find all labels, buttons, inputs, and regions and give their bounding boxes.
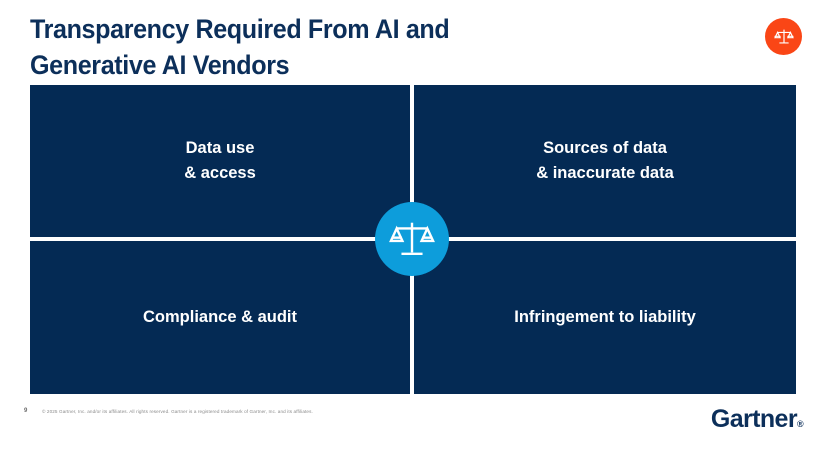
copyright-notice: © 2025 Gartner, Inc. and/or its affiliat… bbox=[42, 409, 313, 414]
quadrant-label: Compliance & audit bbox=[143, 308, 297, 328]
slide-header: Transparency Required From AI and Genera… bbox=[30, 12, 730, 83]
slide-number: 9 bbox=[24, 408, 27, 414]
gartner-logo-text: Gartner bbox=[711, 405, 797, 433]
quadrant-compliance-and-audit[interactable]: Compliance & audit bbox=[30, 241, 410, 394]
quadrant-matrix: Data use & access Sources of data & inac… bbox=[30, 85, 796, 394]
scales-of-justice-icon bbox=[375, 202, 449, 276]
scales-of-justice-icon bbox=[765, 18, 802, 55]
gartner-logo: Gartner® bbox=[711, 405, 803, 434]
quadrant-sources-of-data[interactable]: Sources of data & inaccurate data bbox=[414, 85, 796, 237]
page-title: Transparency Required From AI and Genera… bbox=[30, 12, 681, 83]
quadrant-label: Data use & access bbox=[184, 136, 256, 186]
slide-footer: 9 © 2025 Gartner, Inc. and/or its affili… bbox=[0, 402, 825, 450]
quadrant-label: Infringement to liability bbox=[514, 308, 696, 328]
quadrant-infringement-to-liability[interactable]: Infringement to liability bbox=[414, 241, 796, 394]
quadrant-data-use-and-access[interactable]: Data use & access bbox=[30, 85, 410, 237]
registered-trademark-mark: ® bbox=[797, 419, 803, 429]
quadrant-label: Sources of data & inaccurate data bbox=[536, 136, 674, 186]
